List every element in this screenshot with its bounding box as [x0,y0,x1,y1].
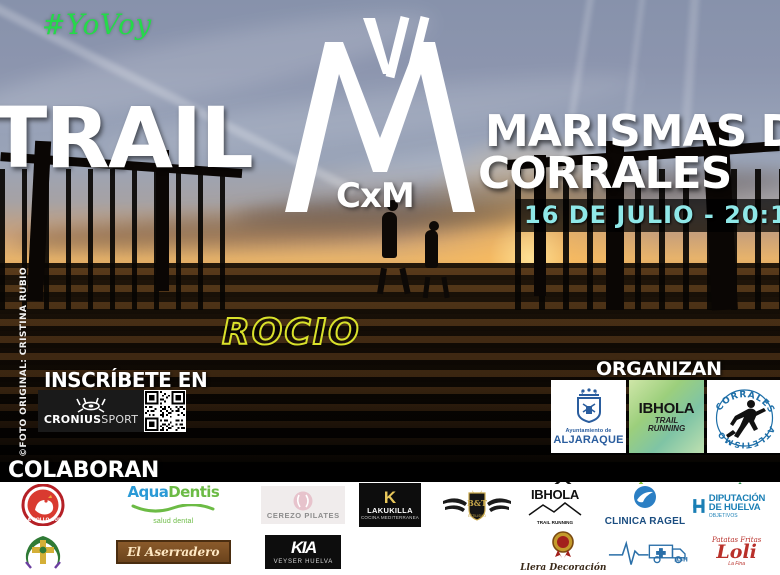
sponsor-spacer-2 [433,528,520,575]
ragel-circle-icon [630,485,660,511]
cronius-wordmark: CRONIUSSPORT [44,413,138,426]
title-corrales: CORRALES [478,152,731,196]
signup-heading: INSCRÍBETE EN [44,368,207,392]
cronius-name-part: CRONIUS [44,413,101,426]
sponsor-hermandad[interactable] [0,528,87,575]
kia-card: KIA VEYSER HUELVA [265,535,341,569]
svg-text:ATLETISMO: ATLETISMO [716,425,777,450]
sponsor-el-aserradero[interactable]: El Aserradero [87,528,260,575]
aquadentis-wordmark: AquaDentis [127,485,219,500]
ibhola-trail-tagline: TRAIL RUNNING [527,521,583,526]
organizer-logo-aljaraque[interactable]: Ayuntamiento de ALJARAQUE [551,380,626,453]
sponsor-kia-veyser[interactable]: KIA VEYSER HUELVA [260,528,347,575]
cronius-suffix-part: SPORT [101,413,138,426]
event-poster: #YoVoy CxM TRAIL MARISMA [0,0,780,575]
ambulance-ecg-icon: ASH [607,535,694,569]
svg-text:B&T: B&T [467,498,487,508]
kia-dealer: VEYSER HUELVA [274,559,334,565]
organizer-logo-corrales[interactable]: CORRALES C.D. ATLETISMO [707,380,780,453]
svg-text:ASH: ASH [674,557,688,563]
organizers-row: Ayuntamiento de ALJARAQUE IBHOLA TRAIL R… [551,380,780,453]
organizer-tagline-2: RUNNING [648,425,685,433]
sponsor-llera-decoracion[interactable]: Llera Decoración [520,528,607,575]
photo-credit: ©FOTO ORIGINAL: CRISTINA RUBIO [19,317,29,457]
runner-silhouette [382,212,397,258]
pollo-sur-logo-icon: LA POLLO SUR [19,484,67,526]
cerezo-wordmark: CEREZO PILATES [267,511,340,520]
sponsor-patatas-loli[interactable]: Patatas Fritas Loli La Fina [693,528,780,575]
sponsor-pollo-sur[interactable]: LA POLLO SUR [0,482,87,528]
ibhola-mountain-icon [527,502,583,516]
ragel-wordmark: CLINICA RAGEL [605,516,686,527]
sponsor-lakukilla[interactable]: K LAKUKILLA COCINA MEDITERRANEA [347,482,434,528]
hashtag-yovoy: #YoVoy [42,8,152,41]
sponsor-cerezo-pilates[interactable]: CEREZO PILATES [260,482,347,528]
organizers-heading: ORGANIZAN [596,358,722,380]
lakukilla-tagline: COCINA MEDITERRANEA [361,515,419,520]
sponsor-diputacion-huelva[interactable]: DIPUTACIÓN DE HUELVA OBJETIVOS [692,484,778,528]
title-trail: TRAIL [0,100,252,177]
runner-circle-icon: CORRALES C.D. ATLETISMO [707,380,780,453]
lakukilla-monogram: K [384,490,396,505]
organizer-name: IBHOLA [639,400,695,417]
diputacion-h-icon [692,493,706,519]
llera-seal-icon [546,530,580,558]
loli-wordmark: Loli [712,544,761,560]
runner-head [429,221,439,231]
aquadentis-tagline: salud dental [127,518,219,525]
swoosh-icon [131,504,215,513]
signup-platform-card[interactable]: CRONIUSSPORT [38,390,186,432]
cronius-brand: CRONIUSSPORT [38,390,144,432]
sponsor-bt-estilismo[interactable]: B&T ESTILISMO [433,482,520,528]
diputacion-sub: OBJETIVOS [709,513,778,519]
svg-text:LA POLLO SUR: LA POLLO SUR [25,517,63,523]
coat-of-arms-icon [570,388,608,428]
participant-name: ROCIO [222,312,361,353]
lakukilla-wordmark: LAKUKILLA [367,506,413,515]
sponsor-clinica-ragel[interactable]: CLINICA RAGEL [600,484,690,528]
lakukilla-card: K LAKUKILLA COCINA MEDITERRANEA [359,483,421,527]
pilates-figure-icon [286,491,320,511]
sponsor-aquadentis[interactable]: AquaDentis salud dental [87,482,260,528]
svg-text:ESTILISMO: ESTILISMO [468,514,486,518]
aserradero-wordmark: El Aserradero [127,545,219,559]
sponsor-spacer [347,528,434,575]
llera-wordmark: Llera Decoración [520,563,606,573]
organizer-logo-ibhola[interactable]: IBHOLA TRAIL RUNNING [629,380,704,453]
kia-wordmark: KIA [291,538,316,558]
event-date-text: 16 DE JULIO - 20:15H [524,201,780,229]
aserradero-sign: El Aserradero [116,540,230,564]
diputacion-wordmark: DIPUTACIÓN DE HUELVA [709,494,778,513]
cxm-wordmark: CxM [336,176,414,216]
crab-icon [74,397,108,413]
qr-code[interactable] [145,391,185,431]
winged-crest-icon: B&T ESTILISMO [441,485,513,525]
hermandad-crest-icon [20,532,66,572]
aquadentis-highlight: Dentis [168,483,219,501]
sponsor-ibhola-trail[interactable]: IBHOLA TRAIL RUNNING [511,484,599,528]
organizer-name: ALJARAQUE [553,434,623,446]
event-date-bar: 16 DE JULIO - 20:15H [516,199,780,232]
ibhola-trail-wordmark: IBHOLA [527,487,583,502]
collaborators-heading: COLABORAN [8,458,159,483]
runner-silhouette [425,230,438,268]
sponsor-ash-ambulancias[interactable]: ASH [607,528,694,575]
cerezo-card: CEREZO PILATES [261,486,345,524]
